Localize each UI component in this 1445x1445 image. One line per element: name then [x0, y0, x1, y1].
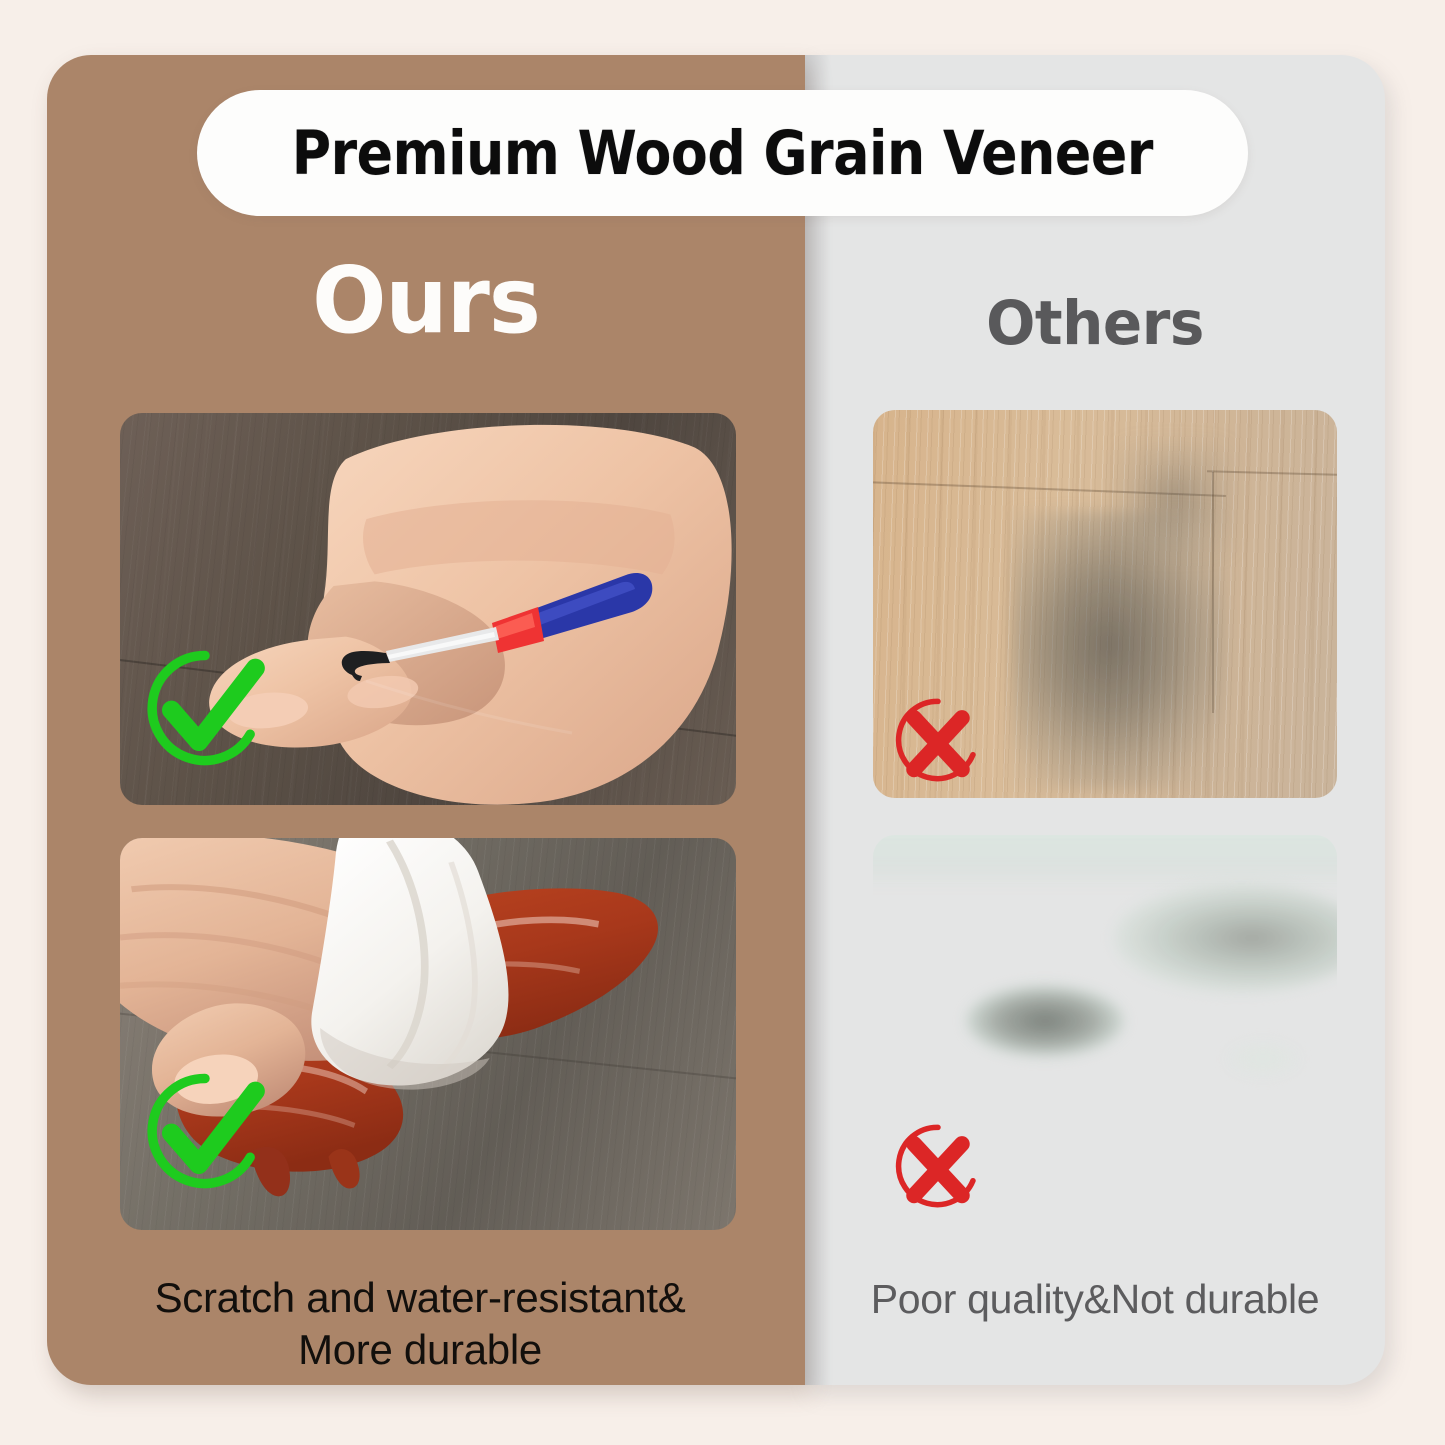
photo-water-stain-wipe-test	[120, 838, 736, 1230]
check-circle-icon	[142, 645, 268, 771]
page-title: Premium Wood Grain Veneer	[292, 118, 1153, 189]
infographic-canvas: Ours Others Premium Wood Grain Veneer Sc…	[0, 0, 1445, 1445]
x-circle-icon	[892, 694, 984, 786]
others-caption-line-1: Poor quality&Not durable	[825, 1274, 1365, 1324]
x-circle-icon	[892, 1120, 984, 1212]
mould-patch-top	[873, 835, 1337, 890]
title-banner: Premium Wood Grain Veneer	[197, 90, 1248, 216]
photo-peeling-mouldy-surface	[873, 835, 1337, 1231]
ours-caption: Scratch and water-resistant& More durabl…	[90, 1272, 750, 1376]
mould-patch-small	[1226, 1041, 1300, 1077]
check-circle-icon	[142, 1068, 268, 1194]
dark-water-stain-blob	[1012, 511, 1225, 790]
others-heading: Others	[820, 292, 1371, 356]
ours-heading: Ours	[66, 253, 786, 349]
ours-caption-line-2: More durable	[90, 1324, 750, 1376]
mould-patch-middle	[966, 985, 1124, 1056]
ours-caption-line-1: Scratch and water-resistant&	[90, 1272, 750, 1324]
others-caption: Poor quality&Not durable	[825, 1274, 1365, 1324]
photo-dark-water-stain	[873, 410, 1337, 798]
photo-scratch-test	[120, 413, 736, 805]
